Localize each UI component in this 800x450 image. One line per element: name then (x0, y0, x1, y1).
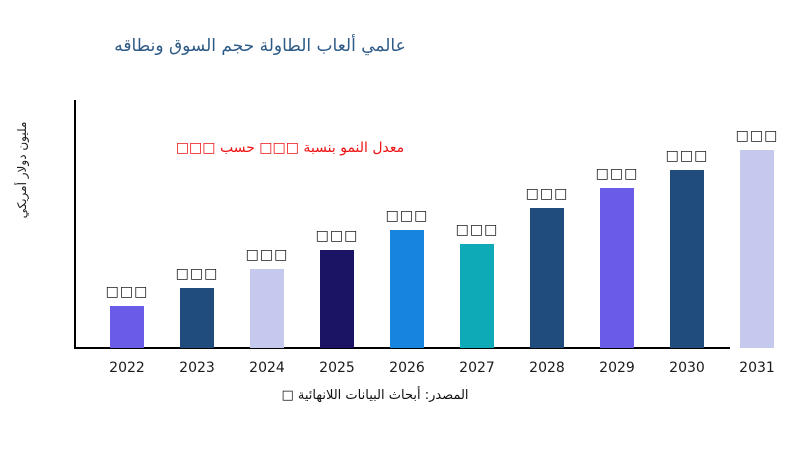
bar-group: □□□2023 (162, 0, 232, 450)
bar-value-label-2025: □□□ (302, 228, 372, 244)
bar-group: □□□2030 (652, 0, 722, 450)
bar-group: □□□2025 (302, 0, 372, 450)
bar-2022[interactable] (110, 306, 144, 348)
x-axis-tick-2029: 2029 (582, 360, 652, 376)
bar-value-label-2031: □□□ (722, 128, 792, 144)
bar-2030[interactable] (670, 170, 704, 348)
bar-group: □□□2029 (582, 0, 652, 450)
chart-container: عالمي ألعاب الطاولة حجم السوق ونطاقه ملي… (0, 0, 800, 450)
bar-2023[interactable] (180, 288, 214, 348)
bar-value-label-2029: □□□ (582, 166, 652, 182)
source-note: المصدر: أبحاث البيانات اللانهائية □ (150, 388, 600, 403)
x-axis-tick-2030: 2030 (652, 360, 722, 376)
plot-area: □□□2022□□□2023□□□2024□□□2025□□□2026□□□20… (0, 0, 800, 450)
bar-2024[interactable] (250, 269, 284, 348)
x-axis-tick-2028: 2028 (512, 360, 582, 376)
bar-group: □□□2026 (372, 0, 442, 450)
x-axis-tick-2022: 2022 (92, 360, 162, 376)
bar-group: □□□2028 (512, 0, 582, 450)
bar-value-label-2030: □□□ (652, 148, 722, 164)
bar-2026[interactable] (390, 230, 424, 348)
bar-group: □□□2027 (442, 0, 512, 450)
bar-value-label-2027: □□□ (442, 222, 512, 238)
growth-rate-annotation: معدل النمو بنسبة □□□ حسب □□□ (140, 140, 440, 156)
bar-value-label-2023: □□□ (162, 266, 232, 282)
x-axis-tick-2024: 2024 (232, 360, 302, 376)
x-axis-tick-2023: 2023 (162, 360, 232, 376)
bar-group: □□□2022 (92, 0, 162, 450)
bar-value-label-2026: □□□ (372, 208, 442, 224)
bar-2028[interactable] (530, 208, 564, 348)
x-axis-tick-2025: 2025 (302, 360, 372, 376)
bar-group: □□□2031 (722, 0, 792, 450)
bar-2025[interactable] (320, 250, 354, 348)
bar-2027[interactable] (460, 244, 494, 348)
x-axis-tick-2026: 2026 (372, 360, 442, 376)
bar-value-label-2024: □□□ (232, 247, 302, 263)
bar-group: □□□2024 (232, 0, 302, 450)
bar-value-label-2022: □□□ (92, 284, 162, 300)
x-axis-tick-2031: 2031 (722, 360, 792, 376)
x-axis-tick-2027: 2027 (442, 360, 512, 376)
bar-2029[interactable] (600, 188, 634, 348)
bar-2031[interactable] (740, 150, 774, 348)
bar-value-label-2028: □□□ (512, 186, 582, 202)
